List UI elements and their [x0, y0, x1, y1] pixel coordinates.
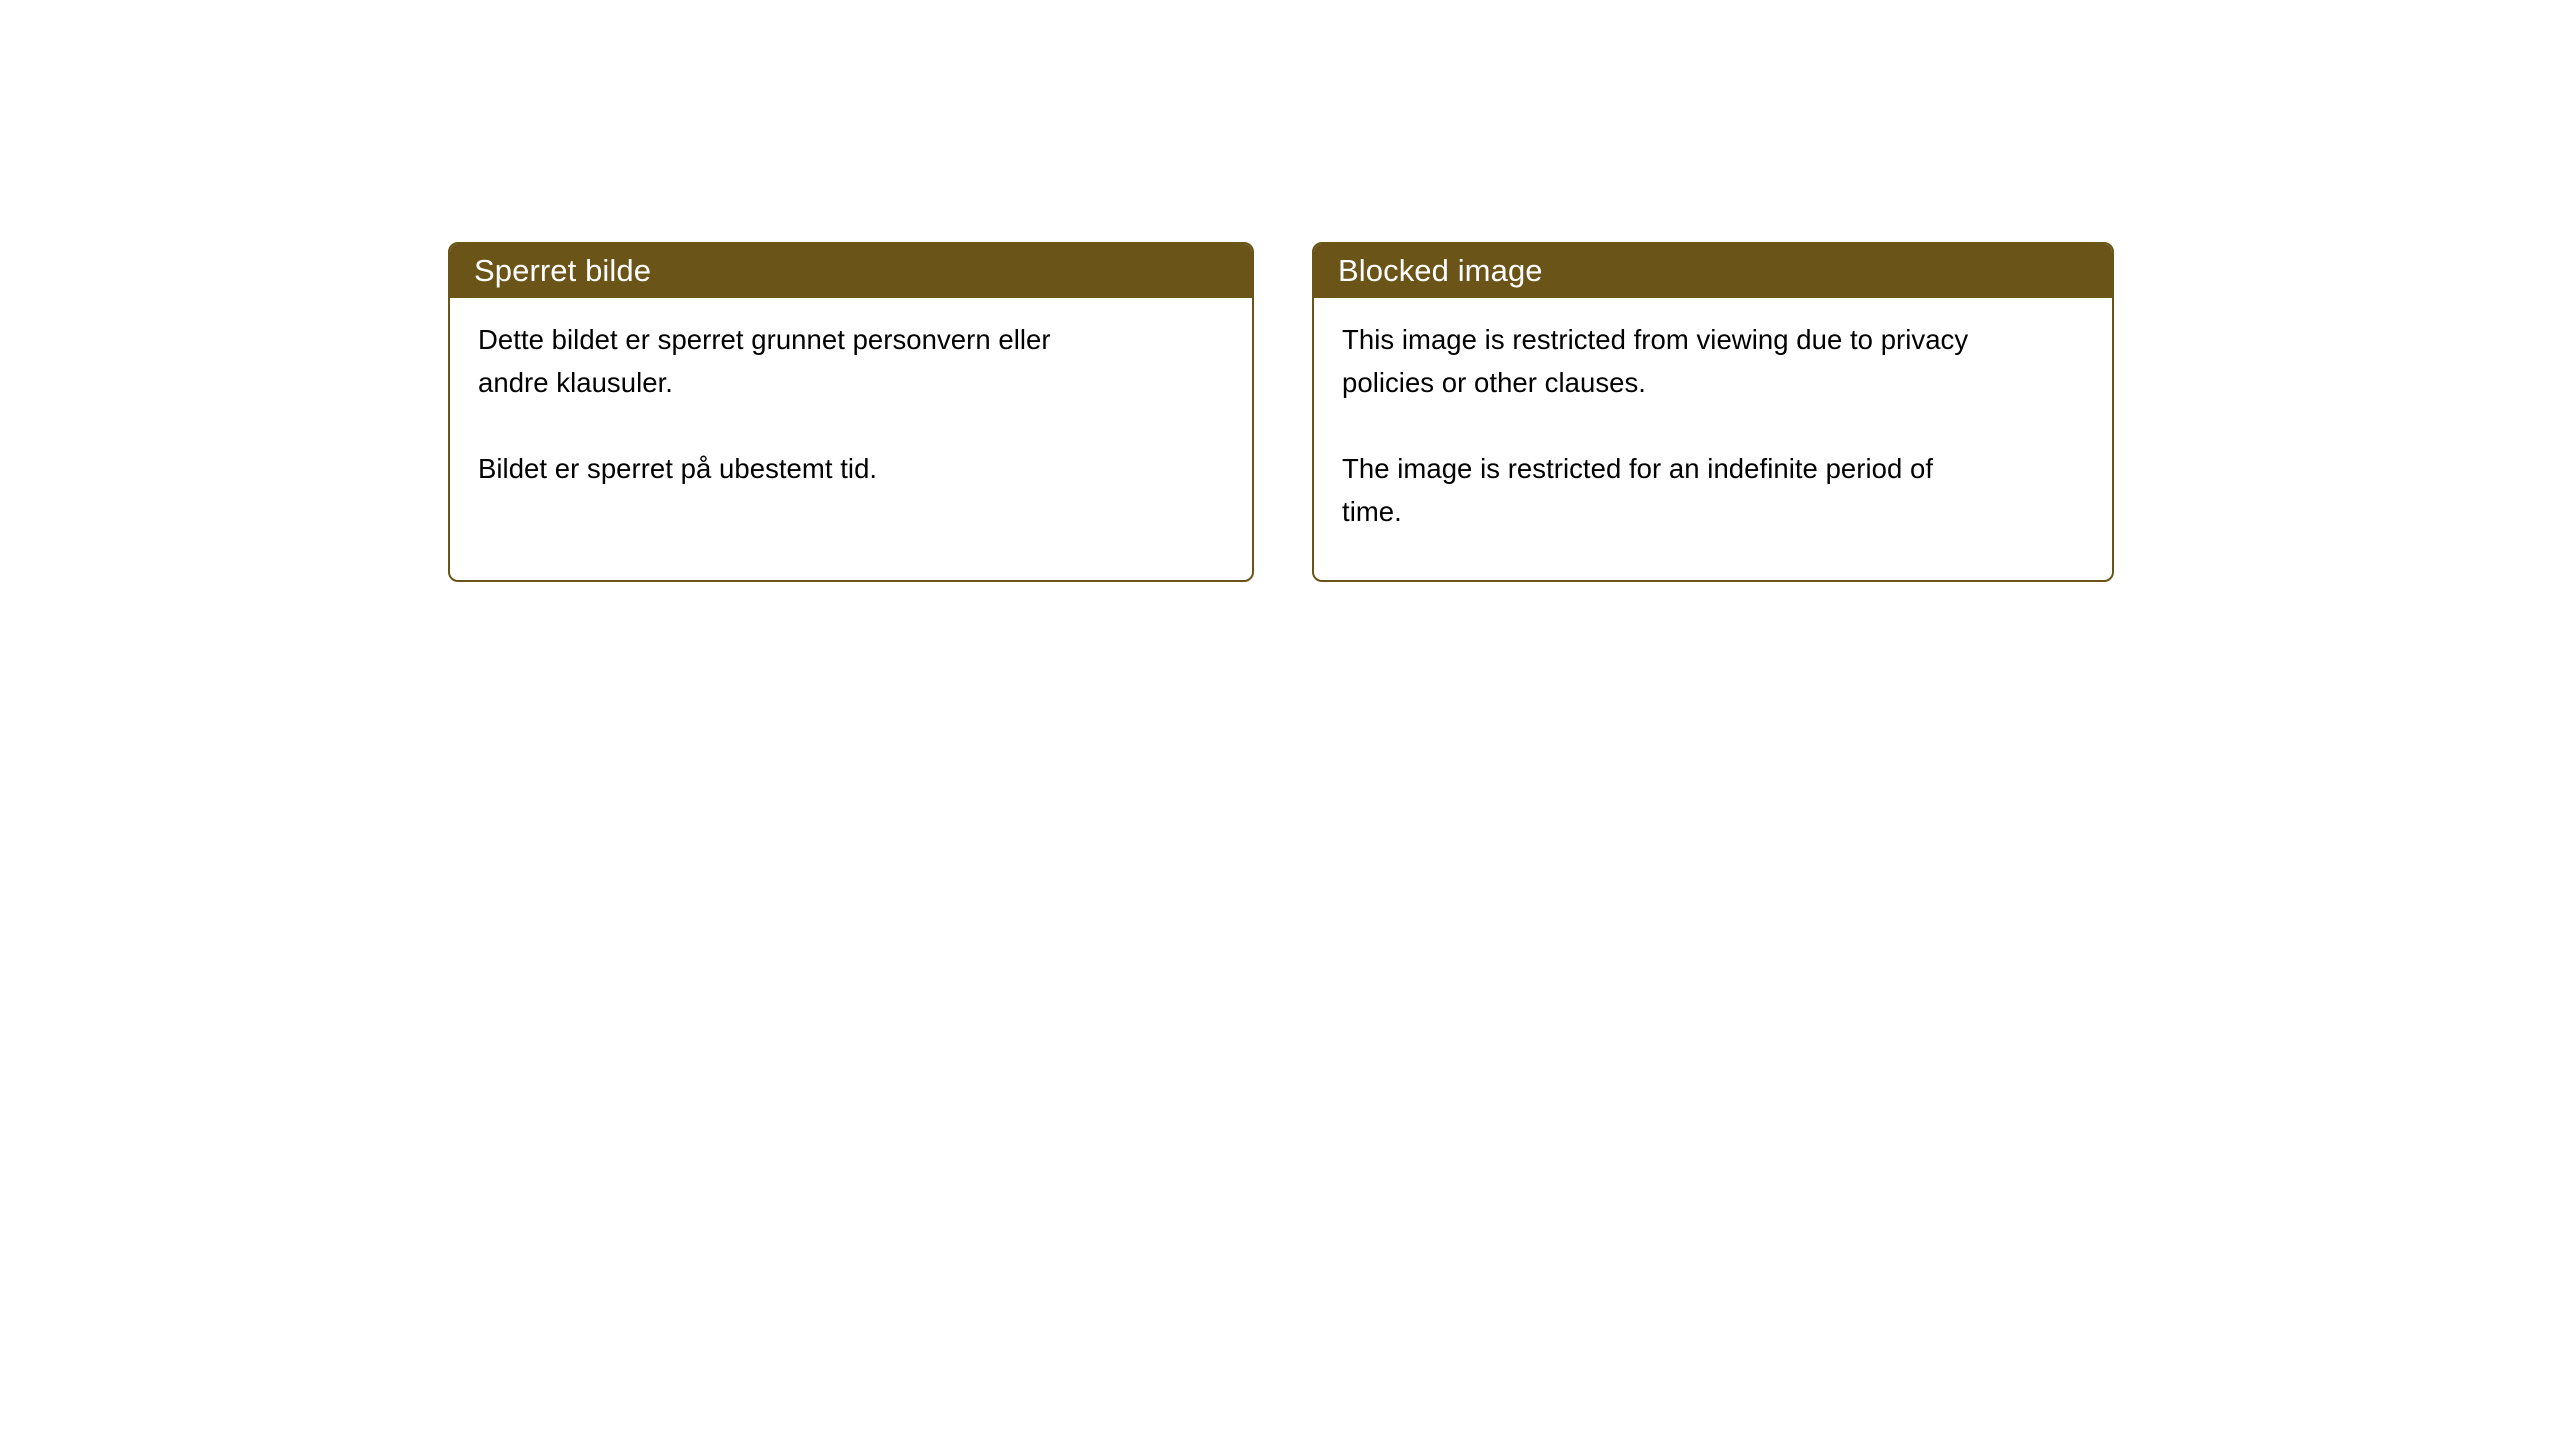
- card-paragraph-secondary-norwegian: Bildet er sperret på ubestemt tid.: [478, 447, 1118, 490]
- card-paragraph-secondary-english: The image is restricted for an indefinit…: [1342, 447, 1982, 533]
- card-header-english: Blocked image: [1312, 242, 2114, 298]
- card-title-norwegian: Sperret bilde: [474, 255, 651, 286]
- blocked-image-card-norwegian: Sperret bilde Dette bildet er sperret gr…: [448, 242, 1254, 582]
- card-paragraph-primary-english: This image is restricted from viewing du…: [1342, 318, 1982, 404]
- card-header-norwegian: Sperret bilde: [448, 242, 1254, 298]
- card-title-english: Blocked image: [1338, 255, 1543, 286]
- blocked-image-card-english: Blocked image This image is restricted f…: [1312, 242, 2114, 582]
- card-body-norwegian: Dette bildet er sperret grunnet personve…: [450, 298, 1252, 490]
- card-body-english: This image is restricted from viewing du…: [1314, 298, 2112, 533]
- card-paragraph-primary-norwegian: Dette bildet er sperret grunnet personve…: [478, 318, 1118, 404]
